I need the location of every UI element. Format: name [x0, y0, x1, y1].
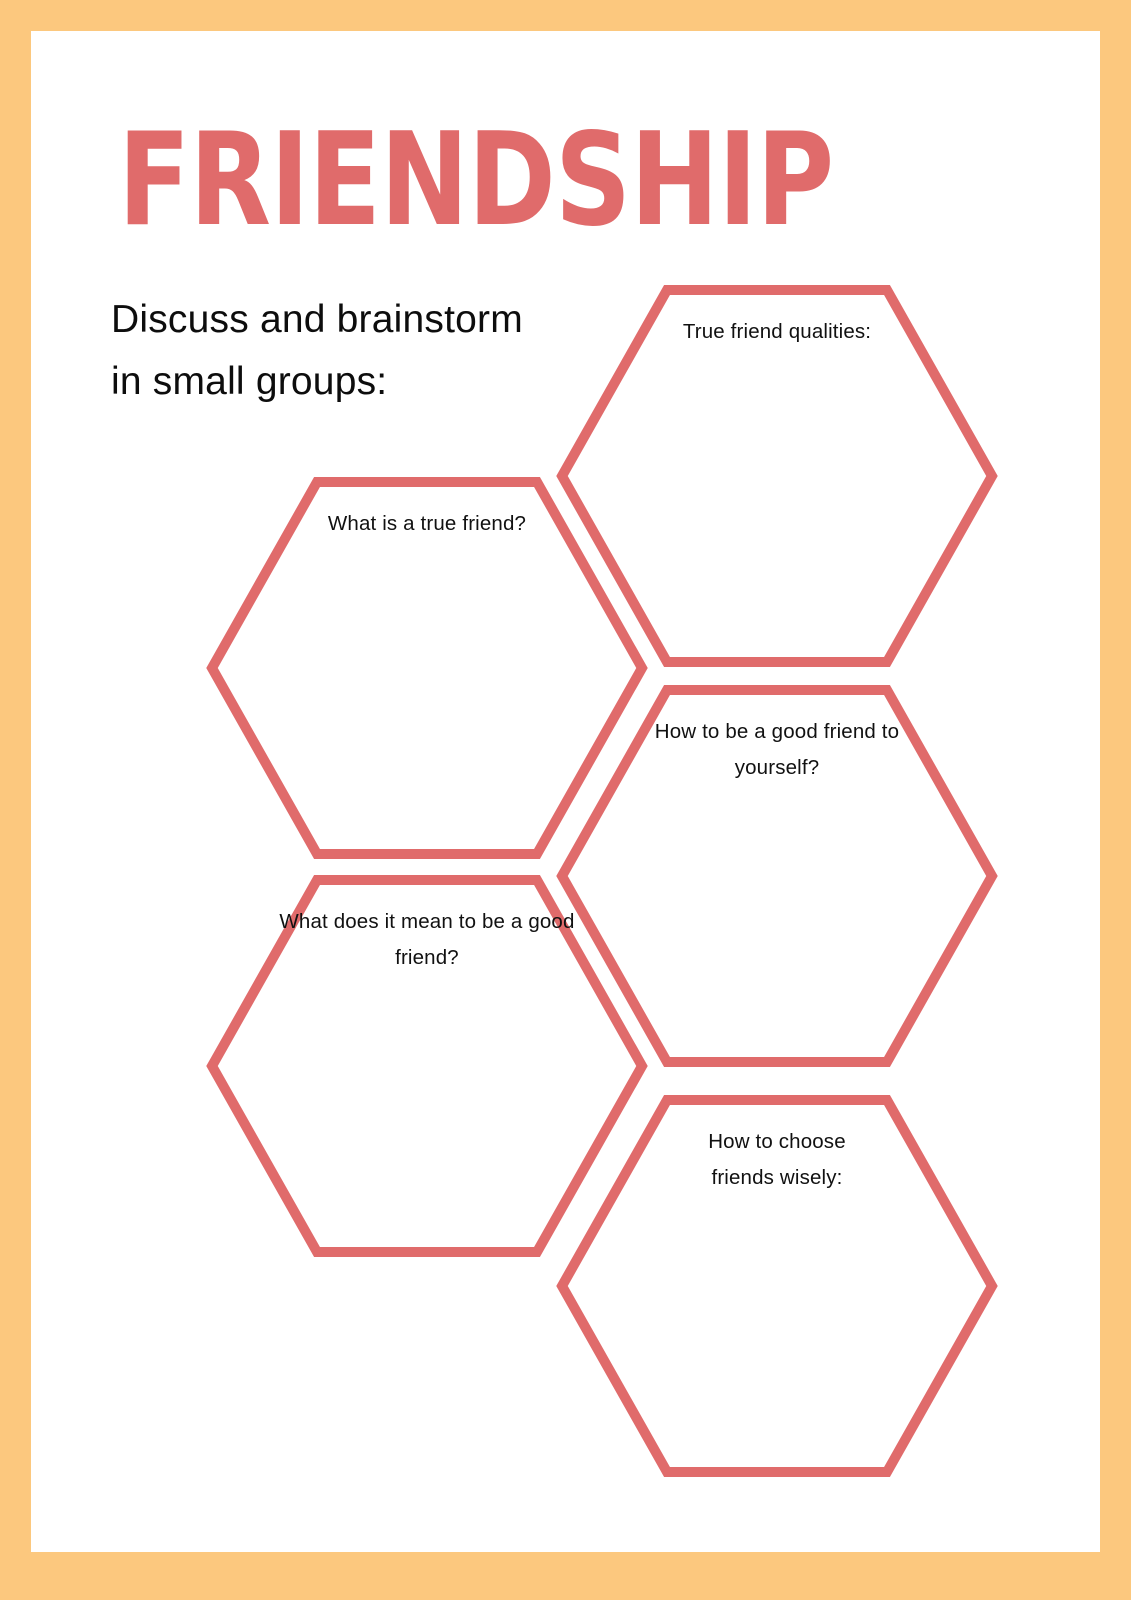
hexagon-label-line-1: What is a true	[328, 512, 457, 535]
instructions-line-1: Discuss and brainstorm	[111, 289, 631, 351]
worksheet-paper: FRIENDSHIP Discuss and brainstorm in sma…	[31, 31, 1100, 1552]
hexagon-label-line-1: True friend	[683, 320, 783, 343]
hexagon-label-line-2: friends wisely:	[711, 1166, 842, 1189]
hexagon-label-line-1: How to be a good	[655, 720, 818, 743]
hexagon-label-line-1: How to choose	[708, 1130, 846, 1153]
hexagon-label: What does it mean to be a good friend?	[277, 904, 576, 976]
hexagon-label-line-2: friend?	[462, 512, 526, 535]
hexagon-label-line-1: What does it mean to	[279, 910, 476, 933]
hexagon-label: What is a true friend?	[326, 506, 528, 542]
hexagon-label: True friend qualities:	[676, 314, 878, 350]
hexagon-label-line-2: qualities:	[789, 320, 871, 343]
instructions-line-2: in small groups:	[111, 351, 631, 413]
worksheet-page: FRIENDSHIP Discuss and brainstorm in sma…	[0, 0, 1131, 1600]
page-title: FRIENDSHIP	[118, 130, 833, 232]
instructions-text: Discuss and brainstorm in small groups:	[111, 289, 631, 412]
hexagon-label: How to choose friends wisely:	[676, 1124, 878, 1196]
hexagon-label: How to be a good friend to yourself?	[627, 714, 926, 786]
hexagon-cell-choose-friends-wisely[interactable]: How to choose friends wisely:	[557, 1095, 997, 1477]
